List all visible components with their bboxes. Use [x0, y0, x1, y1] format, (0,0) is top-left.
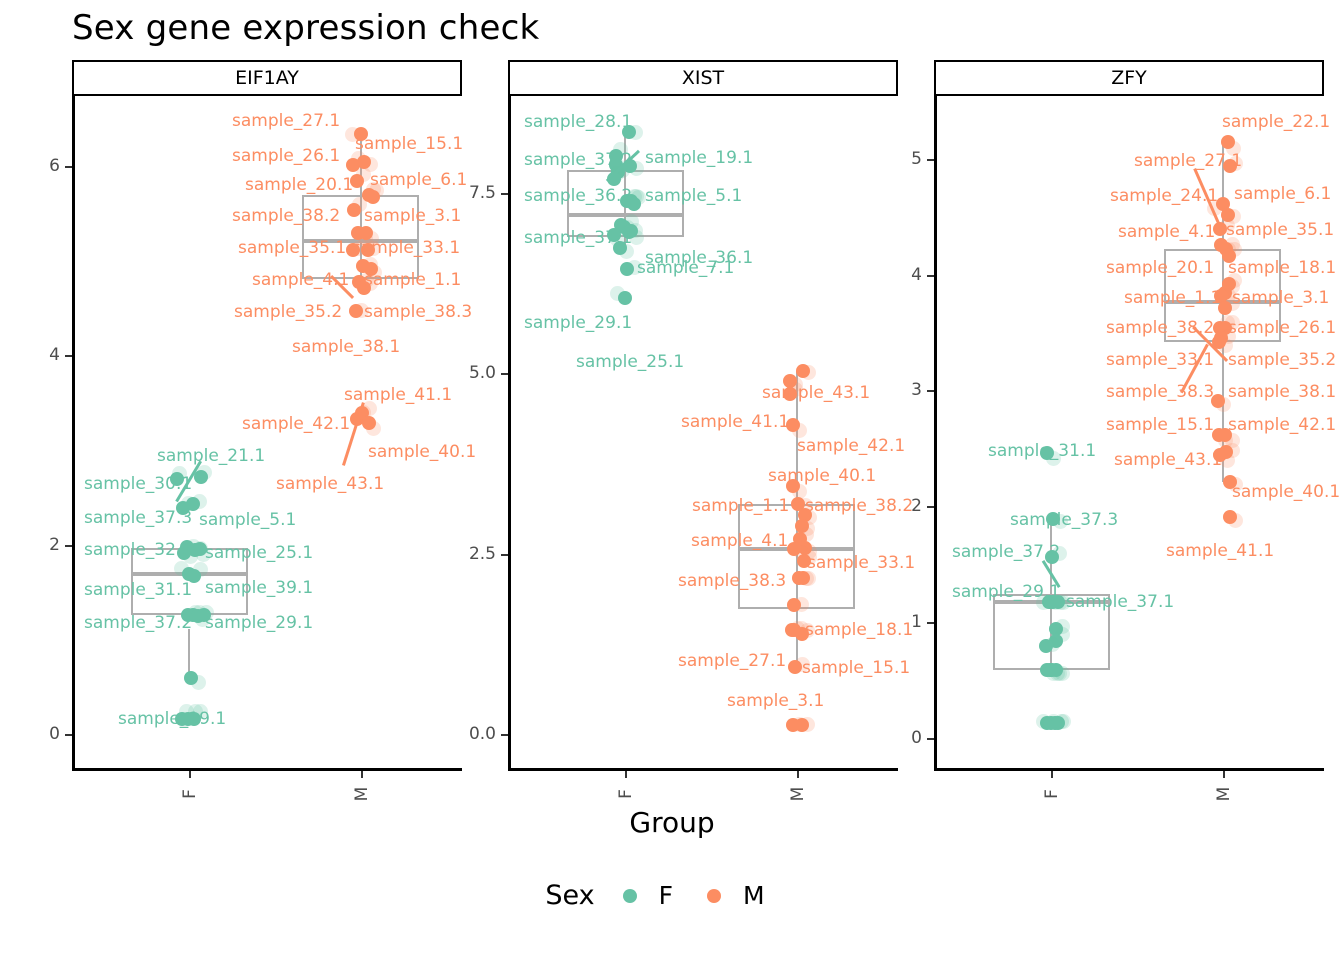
point-label: sample_36.2	[524, 186, 632, 206]
legend-label-f: F	[659, 881, 673, 910]
point-label: sample_41.1	[344, 385, 452, 405]
y-tick-label: 6	[14, 156, 60, 176]
data-point	[349, 304, 363, 318]
y-tick-mark	[65, 166, 72, 168]
legend-title: Sex	[545, 880, 594, 911]
y-tick-mark	[65, 545, 72, 547]
point-label: sample_1.1	[692, 496, 789, 516]
y-tick-mark	[927, 738, 934, 740]
data-point	[1049, 663, 1063, 677]
point-label: sample_27.1	[1134, 151, 1242, 171]
point-label: sample_37.3	[84, 508, 192, 528]
point-label: sample_24.1	[1110, 186, 1218, 206]
point-label: sample_38.2	[1106, 318, 1214, 338]
x-tick-mark	[361, 771, 363, 778]
data-point	[1221, 135, 1235, 149]
facet-strip-label: XIST	[682, 67, 724, 89]
page-title: Sex gene expression check	[72, 8, 539, 48]
point-label: sample_6.1	[370, 170, 467, 190]
point-label: sample_37.2	[84, 613, 192, 633]
point-label: sample_39.1	[205, 578, 313, 598]
point-label: sample_28.1	[524, 112, 632, 132]
point-label: sample_37.1	[1066, 592, 1174, 612]
x-tick-label-m: M	[352, 779, 372, 809]
legend-dot-m-icon	[707, 889, 721, 903]
point-label: sample_33.1	[1106, 350, 1214, 370]
x-tick-mark	[1051, 771, 1053, 778]
x-tick-mark	[625, 771, 627, 778]
y-tick-mark	[927, 622, 934, 624]
point-label: sample_20.1	[245, 175, 353, 195]
y-tick-label: 3	[876, 380, 922, 400]
point-label: sample_43.1	[762, 383, 870, 403]
point-label: sample_43.1	[276, 474, 384, 494]
point-label: sample_19.1	[118, 709, 226, 729]
point-label: sample_30.1	[84, 474, 192, 494]
point-label: sample_1.1	[364, 270, 461, 290]
point-label: sample_29.1	[952, 582, 1060, 602]
point-label: sample_15.1	[1106, 415, 1214, 435]
facet-strip-zfy: ZFY	[934, 60, 1324, 96]
data-point	[194, 470, 208, 484]
point-label: sample_38.3	[678, 571, 786, 591]
data-point	[362, 416, 376, 430]
data-point	[796, 571, 810, 585]
legend-dot-f-icon	[623, 889, 637, 903]
point-label: sample_38.1	[292, 337, 400, 357]
y-axis-line	[508, 96, 511, 768]
data-point	[795, 718, 809, 732]
legend: Sex F M	[0, 880, 1344, 911]
x-tick-label-f: F	[616, 779, 636, 809]
point-label: sample_3.1	[364, 206, 461, 226]
point-label: sample_37.2	[524, 150, 632, 170]
data-point	[618, 291, 632, 305]
legend-item-m[interactable]: M	[707, 881, 765, 910]
y-tick-label: 0	[14, 724, 60, 744]
point-label: sample_43.1	[1114, 450, 1222, 470]
x-axis-line	[508, 768, 898, 771]
point-label: sample_19.1	[645, 148, 753, 168]
point-label: sample_38.1	[1228, 382, 1336, 402]
point-label: sample_35.2	[1228, 350, 1336, 370]
point-label: sample_41.1	[1166, 541, 1274, 561]
y-tick-label: 0.0	[450, 724, 496, 744]
point-label: sample_4.1	[1118, 222, 1215, 242]
facet-strip-label: EIF1AY	[235, 67, 299, 89]
point-label: sample_35.1	[238, 238, 346, 258]
point-label: sample_38.3	[364, 302, 472, 322]
point-label: sample_25.1	[576, 352, 684, 372]
point-label: sample_27.1	[232, 111, 340, 131]
y-axis-line	[72, 96, 75, 768]
point-label: sample_21.1	[157, 446, 265, 466]
point-label: sample_5.1	[645, 186, 742, 206]
point-label: sample_27.1	[678, 651, 786, 671]
point-label: sample_15.1	[355, 134, 463, 154]
point-label: sample_3.1	[1232, 288, 1329, 308]
x-tick-mark	[1223, 771, 1225, 778]
x-tick-mark	[189, 771, 191, 778]
point-label: sample_5.1	[199, 510, 296, 530]
x-tick-label-f: F	[1042, 779, 1062, 809]
facet-strip-xist: XIST	[508, 60, 898, 96]
point-label: sample_25.1	[205, 543, 313, 563]
y-tick-mark	[927, 159, 934, 161]
facet-strip-eif1ay: EIF1AY	[72, 60, 462, 96]
y-tick-mark	[501, 193, 508, 195]
point-label: sample_18.1	[1228, 258, 1336, 278]
point-label: sample_29.1	[524, 313, 632, 333]
point-label: sample_35.2	[234, 302, 342, 322]
point-label: sample_20.1	[1106, 258, 1214, 278]
point-label: sample_37.3	[1010, 510, 1118, 530]
point-label: sample_42.1	[242, 414, 350, 434]
point-label: sample_3.1	[727, 691, 824, 711]
y-tick-mark	[65, 355, 72, 357]
point-label: sample_22.1	[1222, 112, 1330, 132]
y-tick-label: 5	[876, 149, 922, 169]
point-label: sample_31.1	[988, 441, 1096, 461]
point-label: sample_31.1	[84, 580, 192, 600]
y-tick-mark	[501, 373, 508, 375]
point-label: sample_42.1	[1228, 415, 1336, 435]
point-label: sample_40.1	[368, 442, 476, 462]
y-tick-label: 5.0	[450, 363, 496, 383]
point-label: sample_33.1	[352, 238, 460, 258]
y-tick-label: 0	[876, 728, 922, 748]
x-tick-mark	[797, 771, 799, 778]
point-label: sample_38.2	[232, 206, 340, 226]
point-label: sample_4.1	[691, 531, 788, 551]
data-point	[347, 203, 361, 217]
y-tick-mark	[501, 554, 508, 556]
point-label: sample_1.1	[1124, 288, 1221, 308]
y-tick-label: 2	[14, 535, 60, 555]
y-tick-mark	[927, 390, 934, 392]
point-label: sample_26.1	[232, 146, 340, 166]
point-label: sample_33.1	[807, 553, 915, 573]
legend-item-f[interactable]: F	[623, 881, 673, 910]
y-tick-mark	[501, 734, 508, 736]
y-tick-label: 4	[14, 345, 60, 365]
point-label: sample_6.1	[1234, 184, 1331, 204]
legend-label-m: M	[743, 881, 765, 910]
point-label: sample_35.1	[1226, 220, 1334, 240]
facet-strip-label: ZFY	[1111, 67, 1147, 89]
y-tick-label: 4	[876, 265, 922, 285]
point-label: sample_4.1	[252, 270, 349, 290]
point-label: sample_7.1	[637, 258, 734, 278]
point-label: sample_37.1	[524, 228, 632, 248]
x-tick-label-m: M	[1214, 779, 1234, 809]
point-label: sample_41.1	[681, 412, 789, 432]
point-label: sample_38.2	[805, 496, 913, 516]
chart-root: Sex gene expression check log2 CPM Group…	[0, 0, 1344, 960]
data-point	[796, 364, 810, 378]
y-tick-mark	[65, 734, 72, 736]
point-label: sample_29.1	[205, 613, 313, 633]
point-label: sample_32.1	[84, 540, 192, 560]
x-tick-label-m: M	[788, 779, 808, 809]
point-label: sample_40.1	[768, 466, 876, 486]
point-label: sample_38.3	[1106, 382, 1214, 402]
x-axis-line	[72, 768, 462, 771]
data-point	[1223, 510, 1237, 524]
y-tick-mark	[927, 275, 934, 277]
point-label: sample_40.1	[1232, 482, 1340, 502]
point-label: sample_15.1	[802, 658, 910, 678]
point-label: sample_18.1	[805, 620, 913, 640]
x-axis-line	[934, 768, 1324, 771]
y-axis-line	[934, 96, 937, 768]
x-tick-label-f: F	[180, 779, 200, 809]
y-tick-mark	[927, 506, 934, 508]
point-label: sample_42.1	[797, 436, 905, 456]
point-label: sample_26.1	[1228, 318, 1336, 338]
y-tick-label: 2.5	[450, 544, 496, 564]
point-label: sample_37.2	[952, 542, 1060, 562]
